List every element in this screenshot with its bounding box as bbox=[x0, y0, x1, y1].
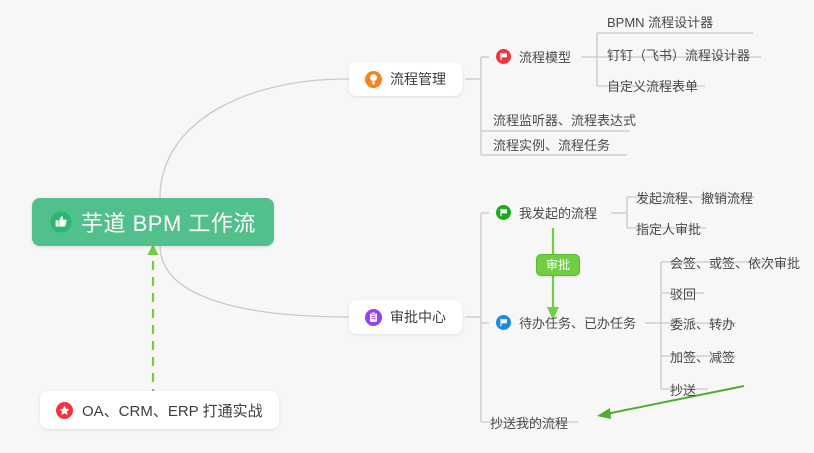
node-label: 会签、或签、依次审批 bbox=[670, 253, 800, 272]
node-label: 流程实例、流程任务 bbox=[493, 135, 610, 154]
node-cc-to-me-process[interactable]: 抄送我的流程 bbox=[484, 411, 574, 433]
node-label: 发起流程、撤销流程 bbox=[636, 188, 753, 207]
node-label: 委派、转办 bbox=[670, 314, 735, 333]
node-label: 指定人审批 bbox=[636, 219, 701, 238]
node-instance-task[interactable]: 流程实例、流程任务 bbox=[487, 133, 616, 155]
node-label: 自定义流程表单 bbox=[607, 76, 698, 95]
standalone-node-oa-crm-erp[interactable]: OA、CRM、ERP 打通实战 bbox=[40, 391, 279, 429]
node-cc[interactable]: 抄送 bbox=[664, 378, 702, 400]
node-dingtalk-feishu-designer[interactable]: 钉钉（飞书）流程设计器 bbox=[601, 43, 756, 65]
node-reject[interactable]: 驳回 bbox=[664, 282, 702, 304]
node-process-model[interactable]: 流程模型 bbox=[489, 45, 577, 67]
node-label: 流程模型 bbox=[519, 47, 571, 66]
thumbs-up-icon bbox=[50, 211, 72, 233]
node-custom-process-form[interactable]: 自定义流程表单 bbox=[601, 74, 704, 96]
branch-process-management[interactable]: 流程管理 bbox=[349, 62, 462, 96]
root-node[interactable]: 芋道 BPM 工作流 bbox=[32, 198, 274, 246]
approval-chip[interactable]: 审批 bbox=[536, 254, 580, 276]
flag-blue-icon bbox=[495, 314, 512, 331]
clipboard-icon bbox=[365, 309, 382, 326]
flag-green-icon bbox=[495, 204, 512, 221]
node-label: 抄送 bbox=[670, 380, 696, 399]
star-icon bbox=[56, 402, 73, 419]
branch-approval-center[interactable]: 审批中心 bbox=[349, 300, 462, 334]
node-todo-done-tasks[interactable]: 待办任务、已办任务 bbox=[489, 311, 642, 333]
branch-label: 审批中心 bbox=[390, 307, 446, 327]
node-countersign[interactable]: 会签、或签、依次审批 bbox=[664, 251, 806, 273]
node-label: 待办任务、已办任务 bbox=[519, 313, 636, 332]
node-label: 驳回 bbox=[670, 284, 696, 303]
node-label: 流程监听器、流程表达式 bbox=[493, 110, 636, 129]
lightbulb-icon bbox=[365, 71, 382, 88]
node-label: 加签、减签 bbox=[670, 347, 735, 366]
node-listener-expression[interactable]: 流程监听器、流程表达式 bbox=[487, 108, 642, 130]
node-label: 抄送我的流程 bbox=[490, 413, 568, 432]
mindmap-canvas: 芋道 BPM 工作流 OA、CRM、ERP 打通实战 流程管理 bbox=[0, 0, 814, 453]
node-assignee-approval[interactable]: 指定人审批 bbox=[630, 217, 707, 239]
dashed-arrow-up bbox=[148, 244, 159, 398]
root-label: 芋道 BPM 工作流 bbox=[81, 206, 256, 238]
node-my-initiated-process[interactable]: 我发起的流程 bbox=[489, 201, 603, 223]
node-delegate-transfer[interactable]: 委派、转办 bbox=[664, 312, 741, 334]
node-label: 钉钉（飞书）流程设计器 bbox=[607, 45, 750, 64]
node-label: BPMN 流程设计器 bbox=[607, 12, 713, 31]
flag-red-icon bbox=[495, 48, 512, 65]
node-add-remove-sign[interactable]: 加签、减签 bbox=[664, 345, 741, 367]
standalone-label: OA、CRM、ERP 打通实战 bbox=[82, 400, 263, 421]
branch-label: 流程管理 bbox=[390, 69, 446, 89]
node-label: 我发起的流程 bbox=[519, 203, 597, 222]
node-start-cancel-process[interactable]: 发起流程、撤销流程 bbox=[630, 186, 759, 208]
node-bpmn-designer[interactable]: BPMN 流程设计器 bbox=[601, 10, 719, 32]
